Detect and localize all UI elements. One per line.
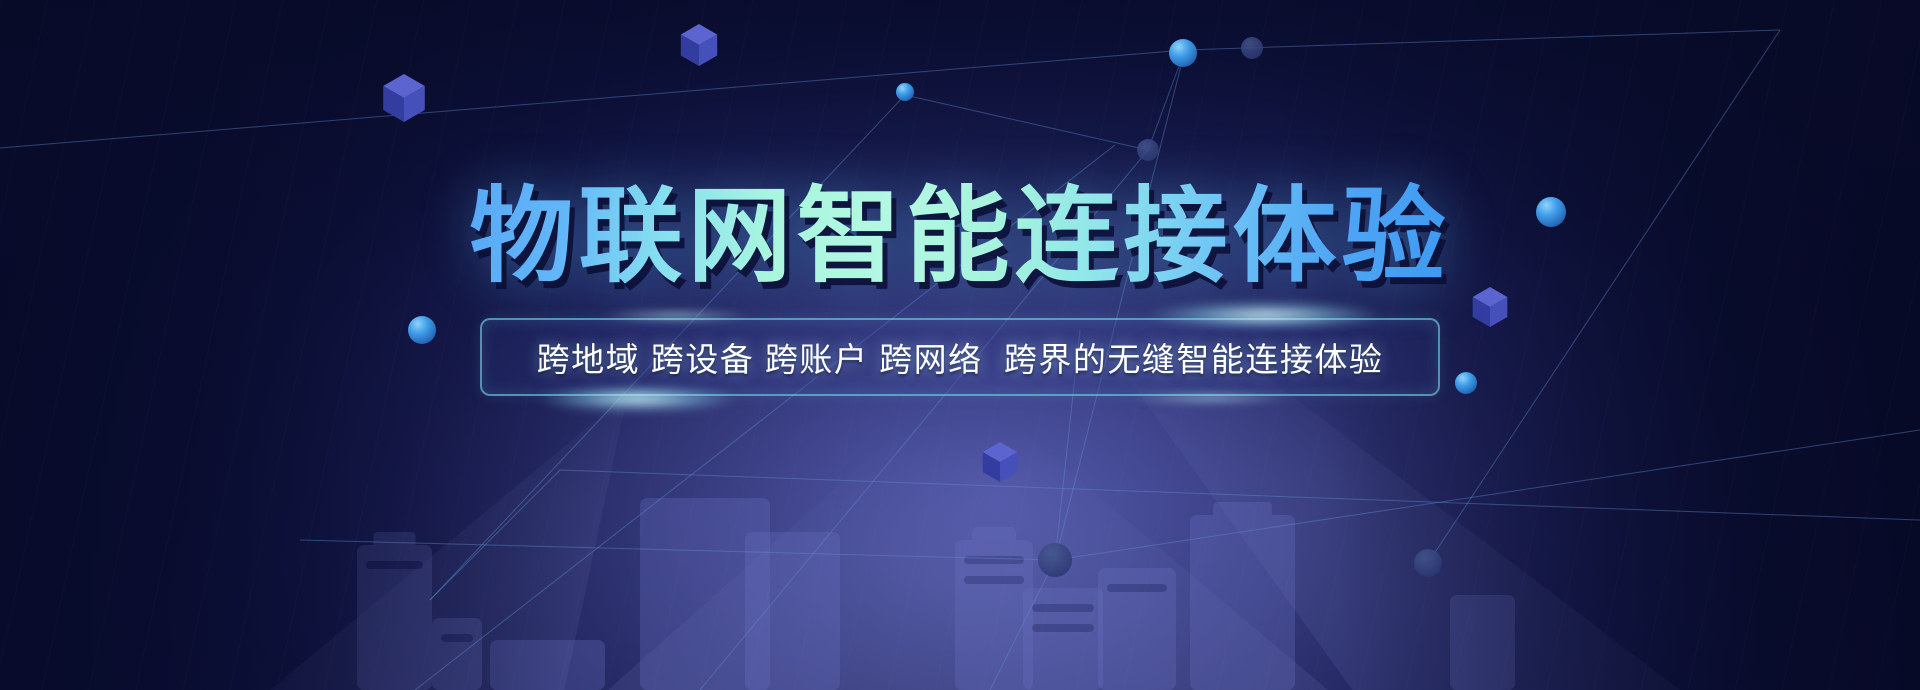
subtitle-box: 跨地域 跨设备 跨账户 跨网络 跨界的无缝智能连接体验 — [480, 318, 1440, 396]
subtitle-container: 跨地域 跨设备 跨账户 跨网络 跨界的无缝智能连接体验 — [480, 318, 1440, 396]
subtitle-text: 跨地域 跨设备 跨账户 跨网络 跨界的无缝智能连接体验 — [537, 333, 1384, 381]
hero-content: 物联网智能连接体验 跨地域 跨设备 跨账户 跨网络 跨界的无缝智能连接体验 — [0, 182, 1920, 396]
hero-banner: 物联网智能连接体验 跨地域 跨设备 跨账户 跨网络 跨界的无缝智能连接体验 — [0, 0, 1920, 690]
page-title: 物联网智能连接体验 — [469, 182, 1450, 292]
